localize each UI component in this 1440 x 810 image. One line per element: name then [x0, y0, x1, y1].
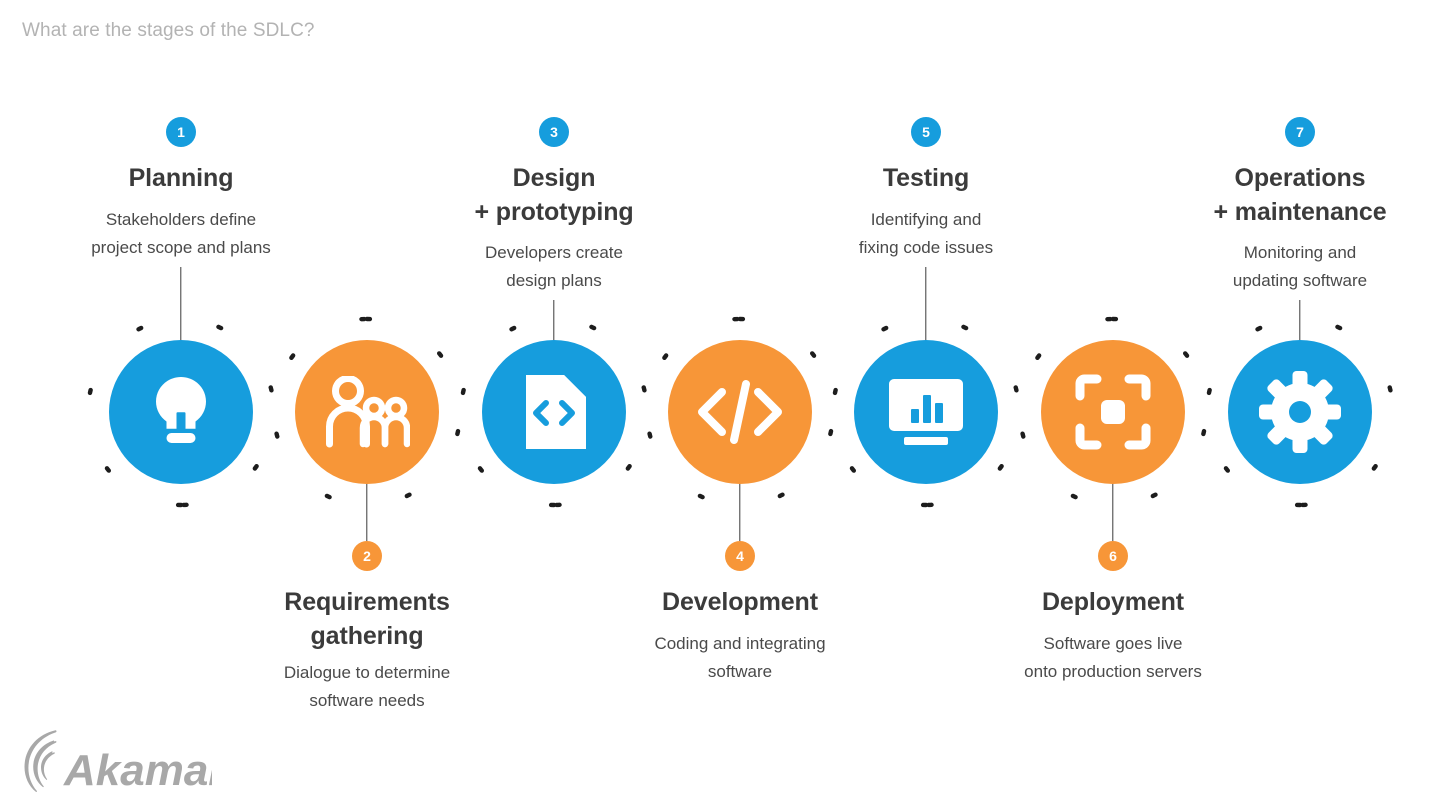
focus-target-icon: [1075, 374, 1151, 450]
code-brackets-icon: [696, 378, 784, 446]
infographic-canvas: What are the stages of the SDLC? 1 Plann…: [0, 0, 1440, 810]
stage-number-badge[interactable]: 5: [911, 117, 941, 147]
stage-title-line1: Design: [513, 164, 596, 192]
gear-icon: [1259, 371, 1341, 453]
stage-title: Operations + maintenance: [1150, 162, 1440, 229]
stage-number-label: 2: [363, 549, 371, 563]
stage-number-badge[interactable]: 2: [352, 541, 382, 571]
stage-connector-line: [553, 300, 554, 344]
stage-number-label: 1: [177, 125, 185, 139]
stage-connector-line: [925, 267, 926, 344]
stage-7[interactable]: 7 Operations + maintenance Monitoring an…: [1150, 0, 1440, 810]
stage-number-label: 4: [736, 549, 744, 563]
stage-number-badge[interactable]: 7: [1285, 117, 1315, 147]
stage-description: Monitoring and updating software: [1150, 239, 1440, 294]
stage-number-label: 5: [922, 125, 930, 139]
stage-number-label: 7: [1296, 125, 1304, 139]
stage-number-label: 3: [550, 125, 558, 139]
stage-number-badge[interactable]: 3: [539, 117, 569, 147]
people-group-icon: [324, 376, 410, 448]
stage-number-badge[interactable]: 1: [166, 117, 196, 147]
code-document-icon: [522, 373, 586, 451]
stage-connector-line: [1112, 480, 1113, 541]
stage-connector-line: [739, 480, 740, 541]
stage-connector-line: [366, 480, 367, 541]
lightbulb-icon: [146, 375, 216, 449]
stage-connector-line: [1299, 300, 1300, 344]
stage-title-line1: Testing: [883, 164, 969, 192]
stage-desc-line2: design plans: [506, 271, 601, 290]
monitor-bar-chart-icon: [887, 377, 965, 447]
stage-desc-line1: Monitoring and: [1244, 243, 1356, 262]
stage-title-line2: + maintenance: [1213, 198, 1386, 226]
stage-number-badge[interactable]: 4: [725, 541, 755, 571]
stage-number-badge[interactable]: 6: [1098, 541, 1128, 571]
stage-desc-line2: updating software: [1233, 271, 1367, 290]
stage-connector-line: [180, 267, 181, 344]
akamai-logo: Akamai: [22, 728, 212, 794]
stage-icon-circle[interactable]: [1228, 340, 1372, 484]
stage-number-label: 6: [1109, 549, 1117, 563]
stage-title-line1: Operations: [1235, 164, 1366, 192]
stage-desc-line2: software: [708, 662, 772, 681]
akamai-wordmark: Akamai: [63, 746, 212, 794]
